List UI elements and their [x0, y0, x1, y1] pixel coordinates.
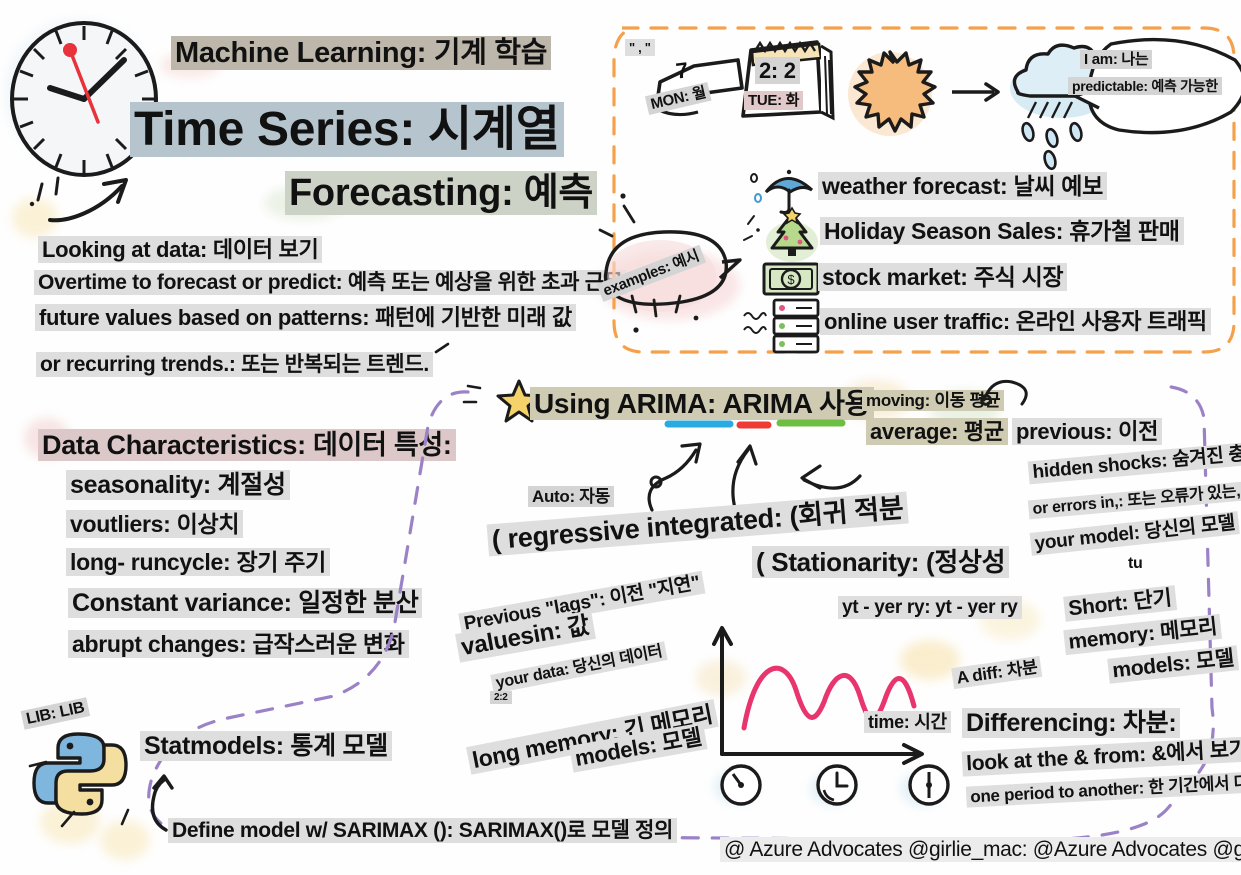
misc-decor-marks [0, 0, 1241, 875]
sketchnote-canvas: Machine Learning: 기계 학습 Time Series: 시계열… [0, 0, 1241, 875]
